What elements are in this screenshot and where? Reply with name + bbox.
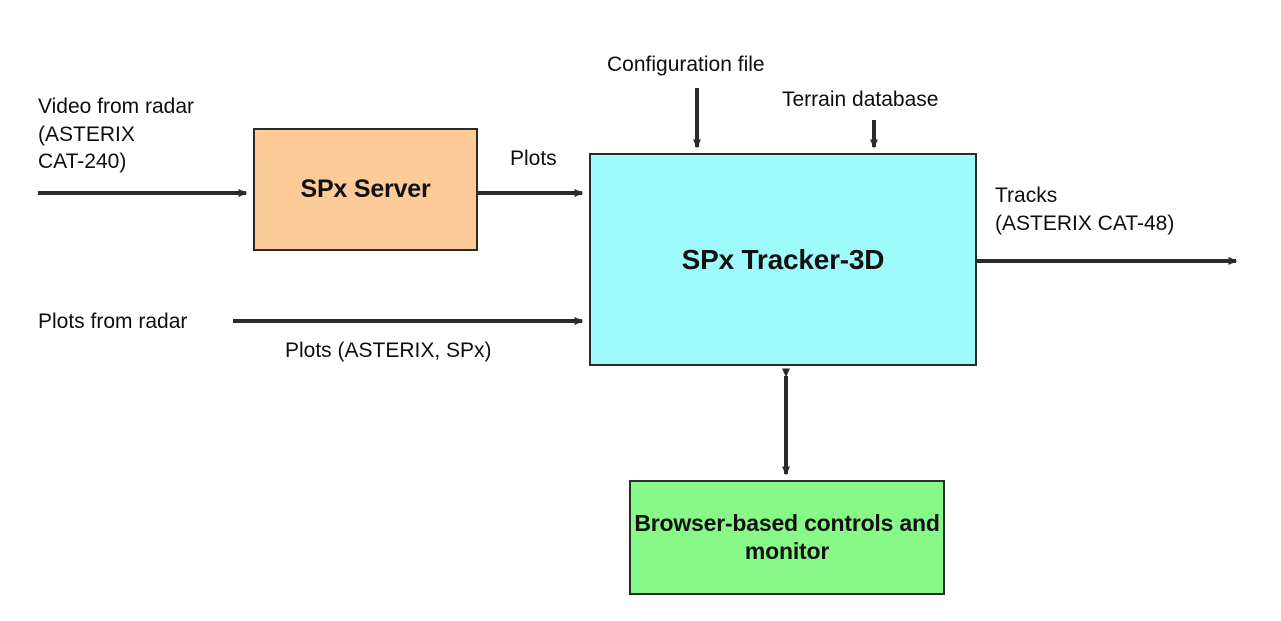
label-plots-from-radar: Plots from radar [38,308,187,336]
node-spx-tracker-label: SPx Tracker-3D [682,243,885,276]
node-spx-server-label: SPx Server [300,175,430,205]
label-video-from-radar: Video from radar (ASTERIX CAT-240) [38,93,194,176]
label-plots-asterix-spx: Plots (ASTERIX, SPx) [285,337,492,365]
node-browser-controls[interactable]: Browser-based controls and monitor [629,480,945,595]
node-spx-tracker[interactable]: SPx Tracker-3D [589,153,977,366]
label-plots: Plots [510,145,557,173]
label-terrain-database: Terrain database [782,86,938,114]
diagram-canvas: SPx Server SPx Tracker-3D Browser-based … [0,0,1281,621]
label-tracks: Tracks (ASTERIX CAT-48) [995,182,1174,237]
label-configuration-file: Configuration file [607,51,765,79]
node-browser-controls-label: Browser-based controls and monitor [631,510,943,564]
node-spx-server[interactable]: SPx Server [253,128,478,251]
